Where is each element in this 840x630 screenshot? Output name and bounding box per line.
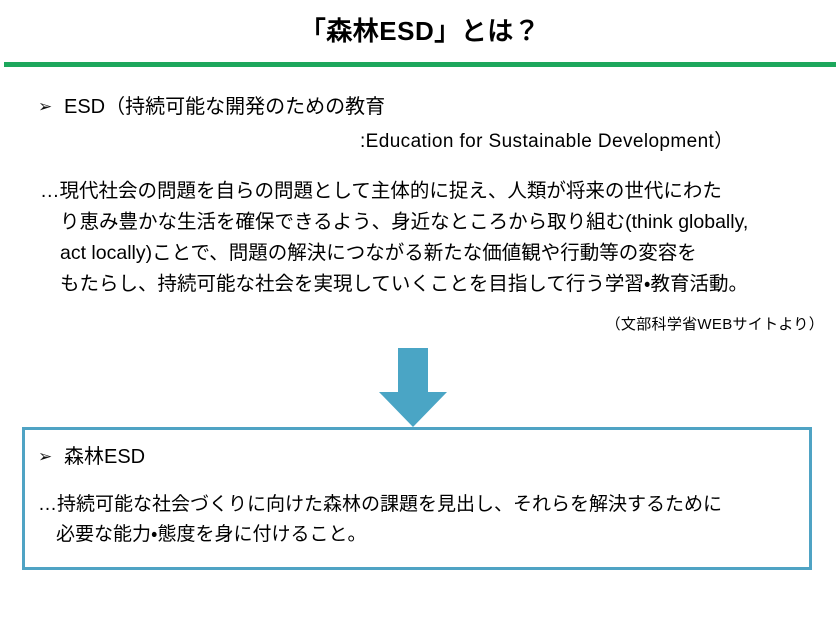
esd-definition-block: ➢ ESD（持続可能な開発のための教育 :Education for Susta… <box>0 92 840 156</box>
page-title: 「森林ESD」とは？ <box>0 14 840 48</box>
esd-bullet-label: ESD（持続可能な開発のための教育 <box>64 92 840 122</box>
box-heading-row: ➢ 森林ESD <box>25 430 809 471</box>
box-body-line: 必要な能力・態度を身に付けること。 <box>38 520 809 550</box>
paragraph-line: …現代社会の問題を自らの問題として主体的に捉え、人類が将来の世代にわた <box>40 176 808 207</box>
arrow-bullet-icon: ➢ <box>38 92 64 122</box>
esd-bullet-line: ➢ ESD（持続可能な開発のための教育 <box>0 92 840 122</box>
paragraph-line: り恵み豊かな生活を確保できるよう、身近なところから取り組む(think glob… <box>40 207 808 238</box>
source-attribution: （文部科学省WEBサイトより） <box>0 313 824 337</box>
shinrin-esd-box: ➢ 森林ESD …持続可能な社会づくりに向けた森林の課題を見出し、それらを解決す… <box>22 427 812 570</box>
paragraph-line: もたらし、持続可能な社会を実現していくことを目指して行う学習・教育活動。 <box>40 269 808 300</box>
box-body-text: …持続可能な社会づくりに向けた森林の課題を見出し、それらを解決するために 必要な… <box>25 471 809 550</box>
title-divider <box>4 62 836 67</box>
esd-description-paragraph: …現代社会の問題を自らの問題として主体的に捉え、人類が将来の世代にわた り恵み豊… <box>40 176 808 300</box>
box-body-line: …持続可能な社会づくりに向けた森林の課題を見出し、それらを解決するために <box>38 490 809 520</box>
esd-english-expansion: :Education for Sustainable Development） <box>0 128 840 156</box>
down-arrow-icon <box>377 348 449 428</box>
box-heading-label: 森林ESD <box>64 443 145 471</box>
paragraph-line: act locally)ことで、問題の解決につながる新たな価値観や行動等の変容を <box>40 238 808 269</box>
arrow-bullet-icon: ➢ <box>38 443 64 471</box>
